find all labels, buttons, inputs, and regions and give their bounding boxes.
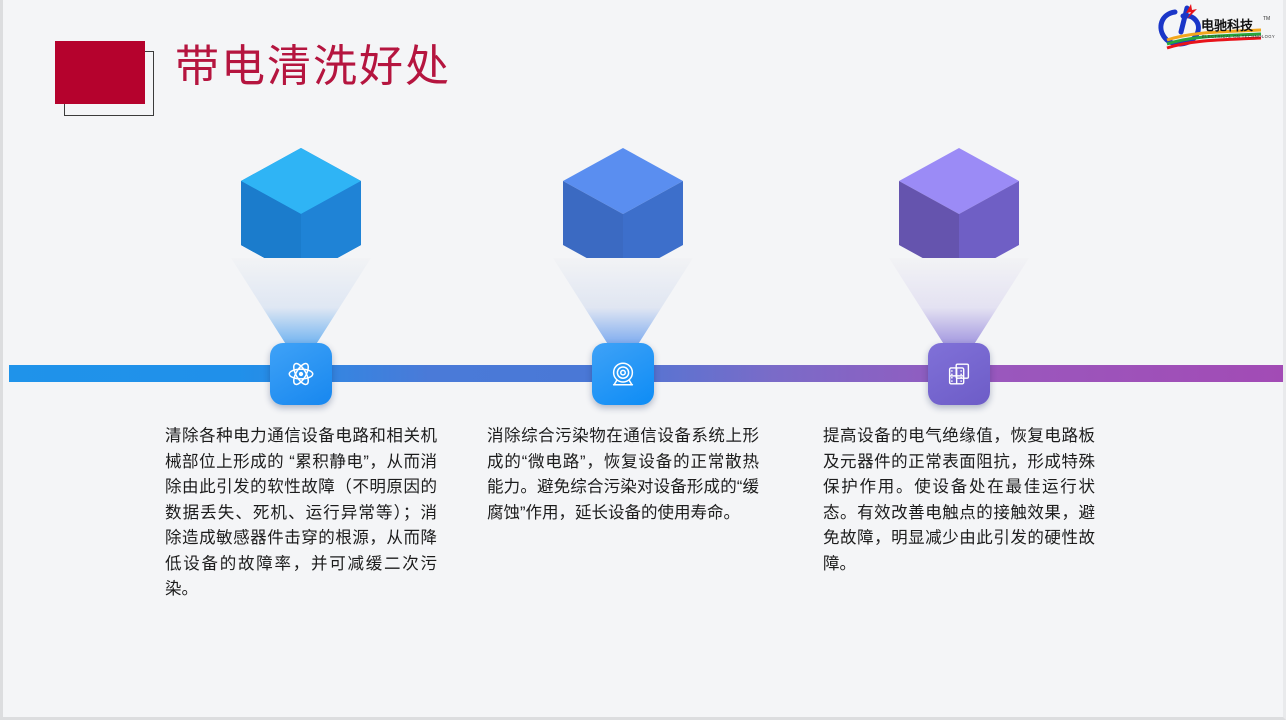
- svg-text:ELECTRICAL ON TECHNOLOGY: ELECTRICAL ON TECHNOLOGY: [1202, 34, 1275, 39]
- benefit-column-1: 清除各种电力通信设备电路和相关机械部位上形成的 “累积静电”，从而消除由此引发的…: [131, 0, 471, 720]
- timeline-node-2[interactable]: [592, 343, 654, 405]
- benefit-text-1: 清除各种电力通信设备电路和相关机械部位上形成的 “累积静电”，从而消除由此引发的…: [165, 424, 437, 603]
- company-logo: 电驰科技 ELECTRICAL ON TECHNOLOGY TM: [1153, 2, 1277, 50]
- benefit-column-2: 消除综合污染物在通信设备系统上形成的“微电路”，恢复设备的正常散热能力。避免综合…: [453, 0, 793, 720]
- benefit-text-2: 消除综合污染物在通信设备系统上形成的“微电路”，恢复设备的正常散热能力。避免综合…: [487, 424, 759, 526]
- logo-brand-text: 电驰科技 ELECTRICAL ON TECHNOLOGY TM: [1201, 16, 1275, 39]
- svg-text:电驰科技: 电驰科技: [1201, 18, 1254, 34]
- slide-canvas: 带电清洗好处 电驰科技 ELECTRICAL ON TECHNOLOGY TM: [0, 0, 1286, 720]
- target-icon: [608, 359, 638, 389]
- timeline-node-1[interactable]: [270, 343, 332, 405]
- timeline-node-3[interactable]: [928, 343, 990, 405]
- benefit-column-3: 提高设备的电气绝缘值，恢复电路板及元器件的正常表面阻抗，形成特殊保护作用。使设备…: [789, 0, 1129, 720]
- atom-icon: [286, 359, 316, 389]
- benefit-text-3: 提高设备的电气绝缘值，恢复电路板及元器件的正常表面阻抗，形成特殊保护作用。使设备…: [823, 424, 1095, 577]
- svg-text:TM: TM: [1263, 16, 1270, 22]
- film-strip-icon: [944, 359, 974, 389]
